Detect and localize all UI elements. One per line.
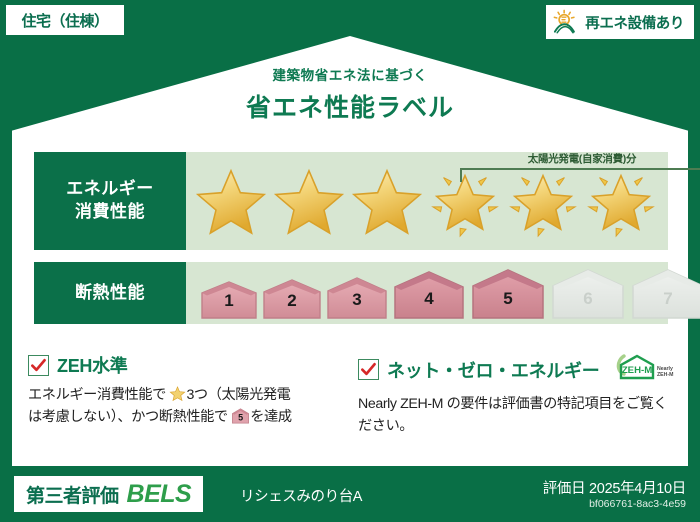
insulation-performance-body: 1 2 3 [186, 262, 668, 324]
energy-performance-label-line1: エネルギー [66, 178, 154, 201]
criteria-zeh-text-1: エネルギー消費性能で [28, 387, 166, 403]
energy-performance-row: エネルギー 消費性能 太陽光発電(自家消費)分 [34, 152, 668, 250]
zeh-m-logo: ZEH-M Nearly ZEH-M [611, 352, 675, 387]
energy-label-root: 住宅（住棟） 再エネ設備あり 建築物省エネ法に基づく 省エネ性能ラベル [0, 0, 700, 522]
solar-portion-bracket [460, 168, 700, 182]
rating-star [192, 162, 270, 240]
insulation-grade-badge: 1 [198, 280, 260, 320]
insulation-grade-group: 1 2 3 [186, 262, 668, 324]
insulation-grade-badge: 3 [324, 276, 390, 320]
rating-star [348, 162, 426, 240]
criteria-zeh-header: ZEH水準 [28, 352, 350, 378]
footer: 第三者評価 BELS リシェスみのり台A 評価日 2025年4月10日 bf06… [0, 466, 700, 522]
bels-certification-box: 第三者評価 BELS [14, 476, 203, 512]
building-name: リシェスみのり台A [240, 485, 362, 506]
evaluation-date: 評価日 2025年4月10日 [543, 477, 686, 498]
rating-star [270, 162, 348, 240]
criteria-net-zero-body: Nearly ZEH-M の要件は評価書の特記項目をご覧ください。 [358, 393, 674, 437]
renewable-equipment-label: 再エネ設備あり [585, 12, 684, 33]
insulation-performance-row: 断熱性能 [34, 262, 668, 324]
criteria-zeh-text-2: 3つ（太陽光発電 [186, 387, 290, 403]
criteria-zeh-text-4: を達成 [250, 409, 291, 425]
energy-performance-label: エネルギー 消費性能 [34, 152, 186, 250]
inline-star-icon [169, 385, 186, 402]
bels-prefix-label: 第三者評価 [26, 481, 119, 508]
solar-portion-caption: 太陽光発電(自家消費)分 [460, 151, 700, 166]
svg-text:5: 5 [238, 412, 243, 422]
building-type-label: 住宅（住棟） [21, 10, 108, 31]
checkbox-checked-icon [28, 355, 49, 376]
insulation-performance-label: 断熱性能 [34, 262, 186, 324]
building-type-tag: 住宅（住棟） [6, 5, 124, 35]
energy-performance-label-line2: 消費性能 [75, 201, 145, 224]
criteria-zeh-standard: ZEH水準 エネルギー消費性能で 3つ（太陽光発電 は考慮しない）、かつ断熱性能… [28, 352, 350, 428]
svg-text:ZEH-M: ZEH-M [622, 365, 652, 376]
insulation-grade-badge: 5 [468, 268, 548, 320]
checkbox-checked-icon [358, 359, 379, 380]
criteria-zeh-title: ZEH水準 [57, 352, 128, 378]
evaluation-id: bf066761-8ac3-4e59 [589, 498, 686, 510]
insulation-grade-badge: 4 [390, 270, 468, 320]
inline-insulation-grade-badge: 5 [231, 407, 250, 425]
criteria-net-zero-header: ネット・ゼロ・エネルギー ZEH-M Nearly ZEH-M [358, 352, 674, 387]
bels-logo-text: BELS [127, 480, 192, 509]
criteria-net-zero-energy: ネット・ゼロ・エネルギー ZEH-M Nearly ZEH-M Nearly Z… [358, 352, 674, 437]
svg-text:ZEH-M: ZEH-M [657, 372, 673, 378]
insulation-grade-badge-inactive: 7 [628, 268, 700, 320]
criteria-zeh-body: エネルギー消費性能で 3つ（太陽光発電 は考慮しない）、かつ断熱性能で 5 を達… [28, 384, 350, 428]
solar-sun-icon [552, 9, 580, 35]
page-title: 省エネ性能ラベル [0, 88, 700, 124]
energy-performance-body: 太陽光発電(自家消費)分 [186, 152, 668, 250]
insulation-grade-badge-inactive: 6 [548, 268, 628, 320]
title-block: 建築物省エネ法に基づく 省エネ性能ラベル [0, 64, 700, 124]
insulation-grade-badge: 2 [260, 278, 324, 320]
criteria-zeh-text-3: は考慮しない）、かつ断熱性能で [28, 409, 228, 425]
renewable-equipment-badge: 再エネ設備あり [546, 5, 694, 39]
insulation-performance-label-text: 断熱性能 [75, 282, 145, 305]
label-subtitle: 建築物省エネ法に基づく [0, 64, 700, 84]
criteria-net-zero-title: ネット・ゼロ・エネルギー [387, 357, 599, 383]
star-rating-group [186, 152, 668, 250]
